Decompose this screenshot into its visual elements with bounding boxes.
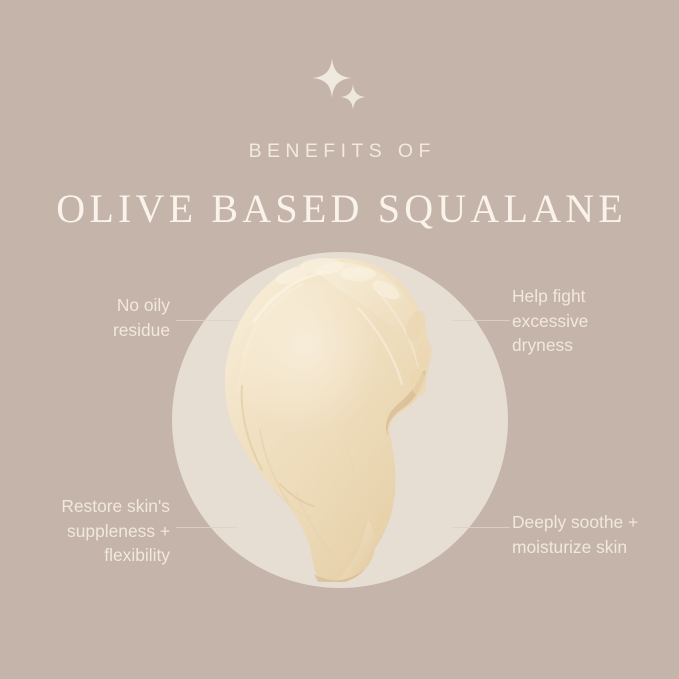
benefit-label-restore-suppleness: Restore skin's suppleness + flexibility	[6, 494, 170, 568]
connector-line-no-oily-residue	[176, 320, 238, 321]
sparkle-decoration	[312, 58, 376, 114]
connector-line-restore-suppleness	[176, 527, 238, 528]
benefit-label-deeply-soothe: Deeply soothe + moisturize skin	[512, 510, 674, 559]
sparkle-small-icon	[340, 84, 366, 110]
page-title: OLIVE BASED SQUALANE	[0, 186, 679, 232]
benefit-label-no-oily-residue: No oily residue	[16, 293, 170, 342]
cream-swatch	[218, 252, 454, 582]
benefit-label-help-fight-dryness: Help fight excessive dryness	[512, 284, 672, 358]
eyebrow-text: BENEFITS OF	[0, 140, 679, 163]
benefits-infographic: BENEFITS OF OLIVE BASED SQUALANE	[0, 0, 679, 679]
connector-line-deeply-soothe	[452, 527, 510, 528]
connector-line-help-fight-dryness	[452, 320, 510, 321]
